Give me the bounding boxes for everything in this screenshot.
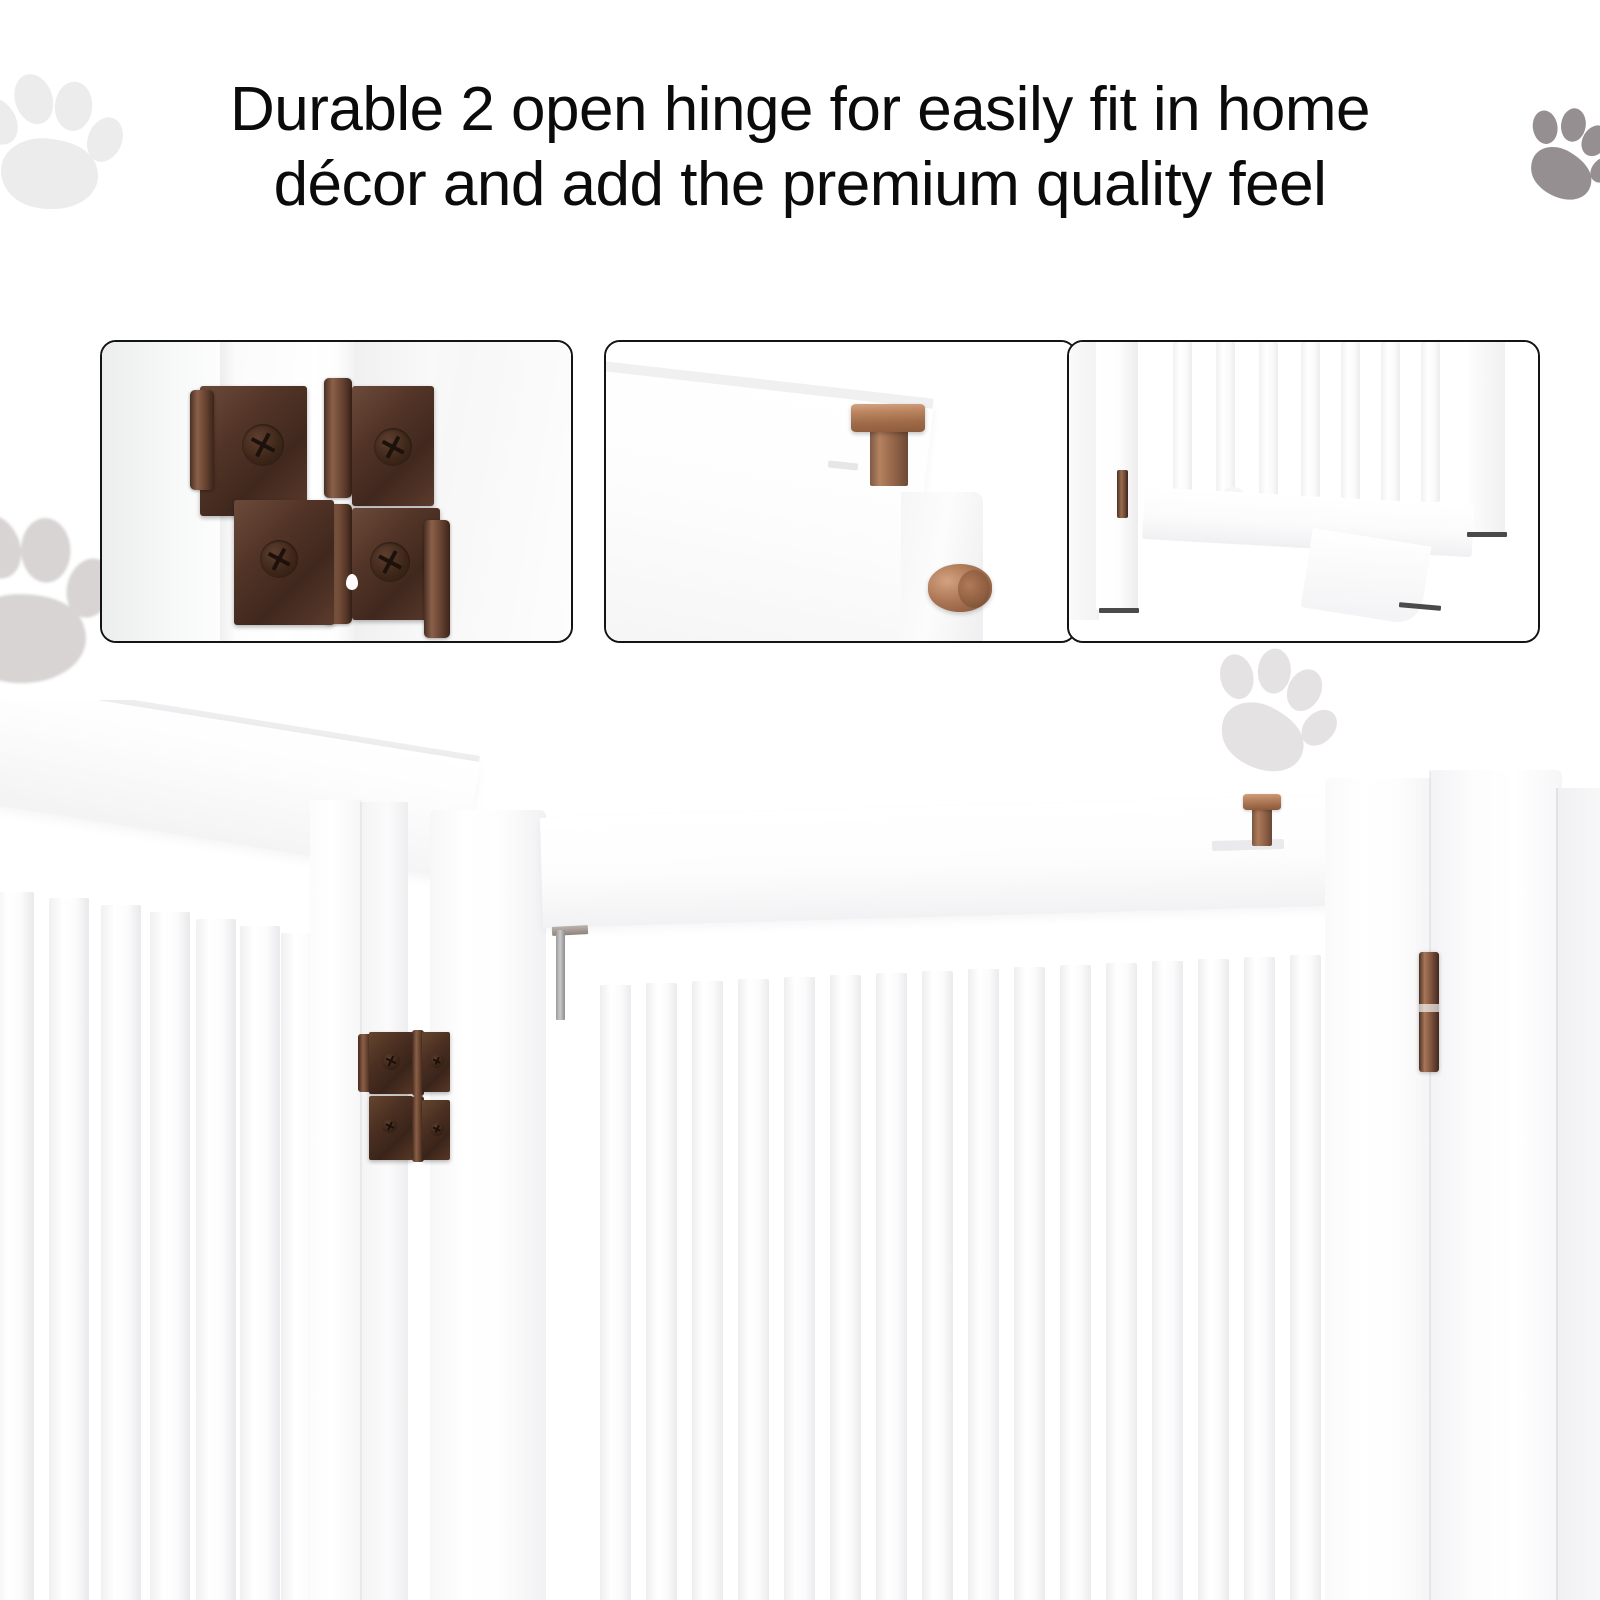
hero-middle-slat [830, 975, 861, 1600]
hero-left-slat [240, 926, 280, 1600]
hero-knob-stem [1252, 808, 1272, 846]
top-knob-stem [870, 430, 908, 486]
hero-middle-slat [1106, 963, 1137, 1600]
hero-corner-post-side [362, 802, 408, 1600]
hero-middle-slat [1014, 967, 1045, 1600]
hero-left-slat [49, 898, 89, 1600]
panel3-flat-panel-left [1069, 342, 1099, 620]
hero-corner-post-seam [360, 802, 362, 1600]
hero-right-post-far [1556, 788, 1600, 1600]
hero-middle-slat [646, 983, 677, 1600]
detail-panel-knob-closeup [604, 340, 1077, 643]
hero-hinge-screw-4 [430, 1122, 444, 1136]
panel3-floor-pad-right [1467, 532, 1507, 537]
hinge-knuckle-lower-right [424, 520, 450, 638]
paw-print-top-right-icon [1500, 88, 1600, 224]
hero-left-slat [0, 892, 34, 1600]
hinge-screw-upper-left [242, 424, 284, 466]
hinge-screw-upper-right [374, 428, 412, 466]
hero-middle-slat [1290, 955, 1321, 1600]
hero-right-post-seam-outer [1556, 788, 1558, 1600]
hero-middle-slat [1244, 957, 1275, 1600]
panel3-slat [1341, 342, 1360, 514]
hero-right-post-seam [1429, 770, 1431, 1600]
hero-middle-slat [1152, 961, 1183, 1600]
hero-middle-slat [1060, 965, 1091, 1600]
hero-product-photo [0, 700, 1600, 1600]
hero-hinge-screw-1 [382, 1052, 400, 1070]
product-marketing-image: Durable 2 open hinge for easily fit in h… [0, 0, 1600, 1600]
hero-middle-slat [692, 981, 723, 1600]
hero-middle-slat [1198, 959, 1229, 1600]
panel3-floor-pad-left [1099, 608, 1139, 613]
panel3-slat [1421, 342, 1440, 502]
side-knob-face [958, 570, 990, 608]
hero-left-slat [101, 905, 141, 1600]
hero-barrel-hinge-gap [1419, 1004, 1439, 1012]
hero-middle-rail [540, 796, 1343, 928]
hero-middle-slat [600, 985, 631, 1600]
hero-right-post-inner [1325, 778, 1433, 1600]
hero-right-post-outer [1430, 770, 1562, 1600]
hero-barrel-hinge [1419, 952, 1439, 1072]
hero-hinge-screw-3 [382, 1118, 397, 1133]
panel3-slat [1301, 342, 1320, 520]
hero-left-slat [150, 912, 190, 1600]
hinge-knuckle-upper-left [190, 390, 214, 490]
hero-mounting-bracket [556, 930, 565, 1020]
hero-middle-slat [784, 977, 815, 1600]
headline-text: Durable 2 open hinge for easily fit in h… [100, 72, 1500, 222]
hinge-knuckle-center-top [324, 378, 352, 498]
hero-double-action-hinge [358, 1030, 450, 1165]
hero-middle-slat [738, 979, 769, 1600]
hinge-highlight [346, 574, 358, 590]
top-knob-cap [851, 404, 925, 432]
panel3-slat [1381, 342, 1400, 508]
hero-hinge-screw-2 [430, 1054, 444, 1068]
hero-middle-slat [876, 973, 907, 1600]
hero-knob-cap [1243, 794, 1281, 810]
hero-corner-post-front [310, 800, 362, 1600]
hero-middle-post [430, 810, 546, 1600]
hero-left-slat [196, 919, 236, 1600]
hinge-screw-lower-left [260, 540, 298, 578]
hero-middle-slat [922, 971, 953, 1600]
detail-panel-hinge-closeup [100, 340, 573, 643]
panel3-post-right [1469, 342, 1505, 535]
hero-middle-slat [968, 969, 999, 1600]
hinge-screw-lower-right [370, 542, 410, 582]
hero-knob-mounting-plate [1212, 839, 1284, 851]
panel3-hinge [1117, 470, 1128, 518]
detail-panel-gate-base [1067, 340, 1540, 643]
